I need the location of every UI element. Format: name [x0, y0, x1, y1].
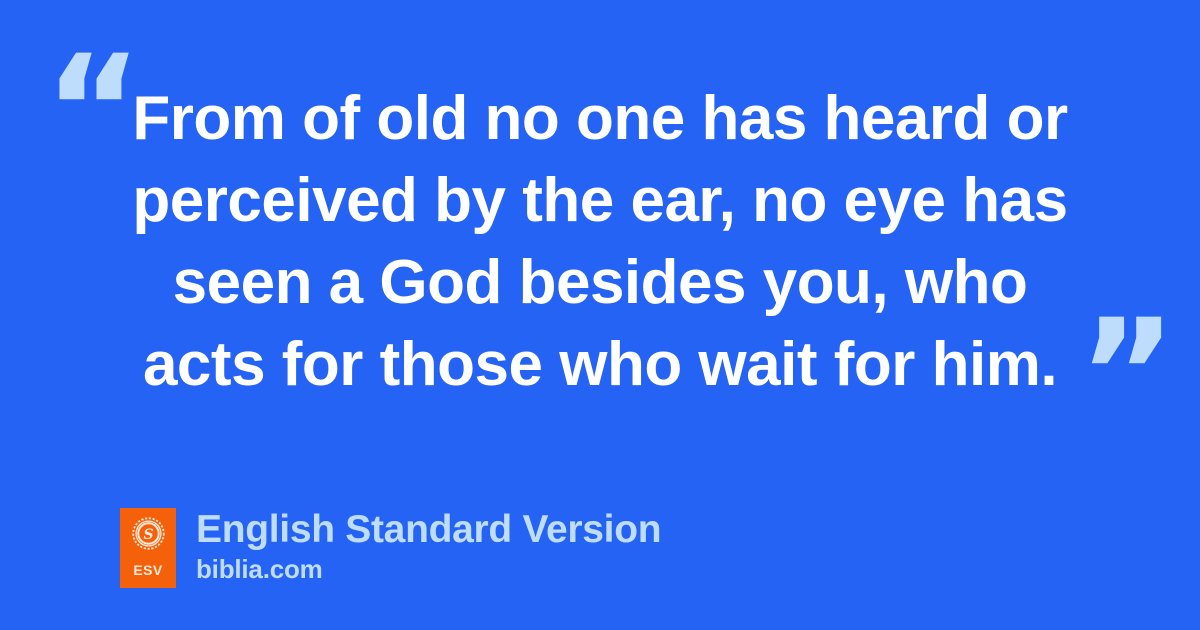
quote-text: From of old no one has heard or perceive…	[110, 78, 1090, 406]
esv-seal-icon: S	[132, 517, 165, 550]
quote-area: “ From of old no one has heard or percei…	[0, 0, 1200, 450]
quote-line: From of old no one has heard or	[110, 78, 1090, 160]
attribution: S ESV English Standard Version biblia.co…	[120, 508, 661, 588]
quote-line: seen a God besides you, who	[110, 242, 1090, 324]
closing-quote-icon: ”	[1078, 300, 1188, 400]
verse-quote-card: “ From of old no one has heard or percei…	[0, 0, 1200, 630]
attribution-text: English Standard Version biblia.com	[196, 508, 661, 584]
quote-line: perceived by the ear, no eye has	[110, 160, 1090, 242]
esv-logo: S ESV	[120, 508, 176, 588]
site-url[interactable]: biblia.com	[196, 554, 661, 584]
svg-text:S: S	[143, 527, 153, 543]
esv-abbreviation: ESV	[133, 563, 162, 577]
quote-line: acts for those who wait for him.	[110, 324, 1090, 406]
bible-version-name: English Standard Version	[196, 508, 661, 552]
